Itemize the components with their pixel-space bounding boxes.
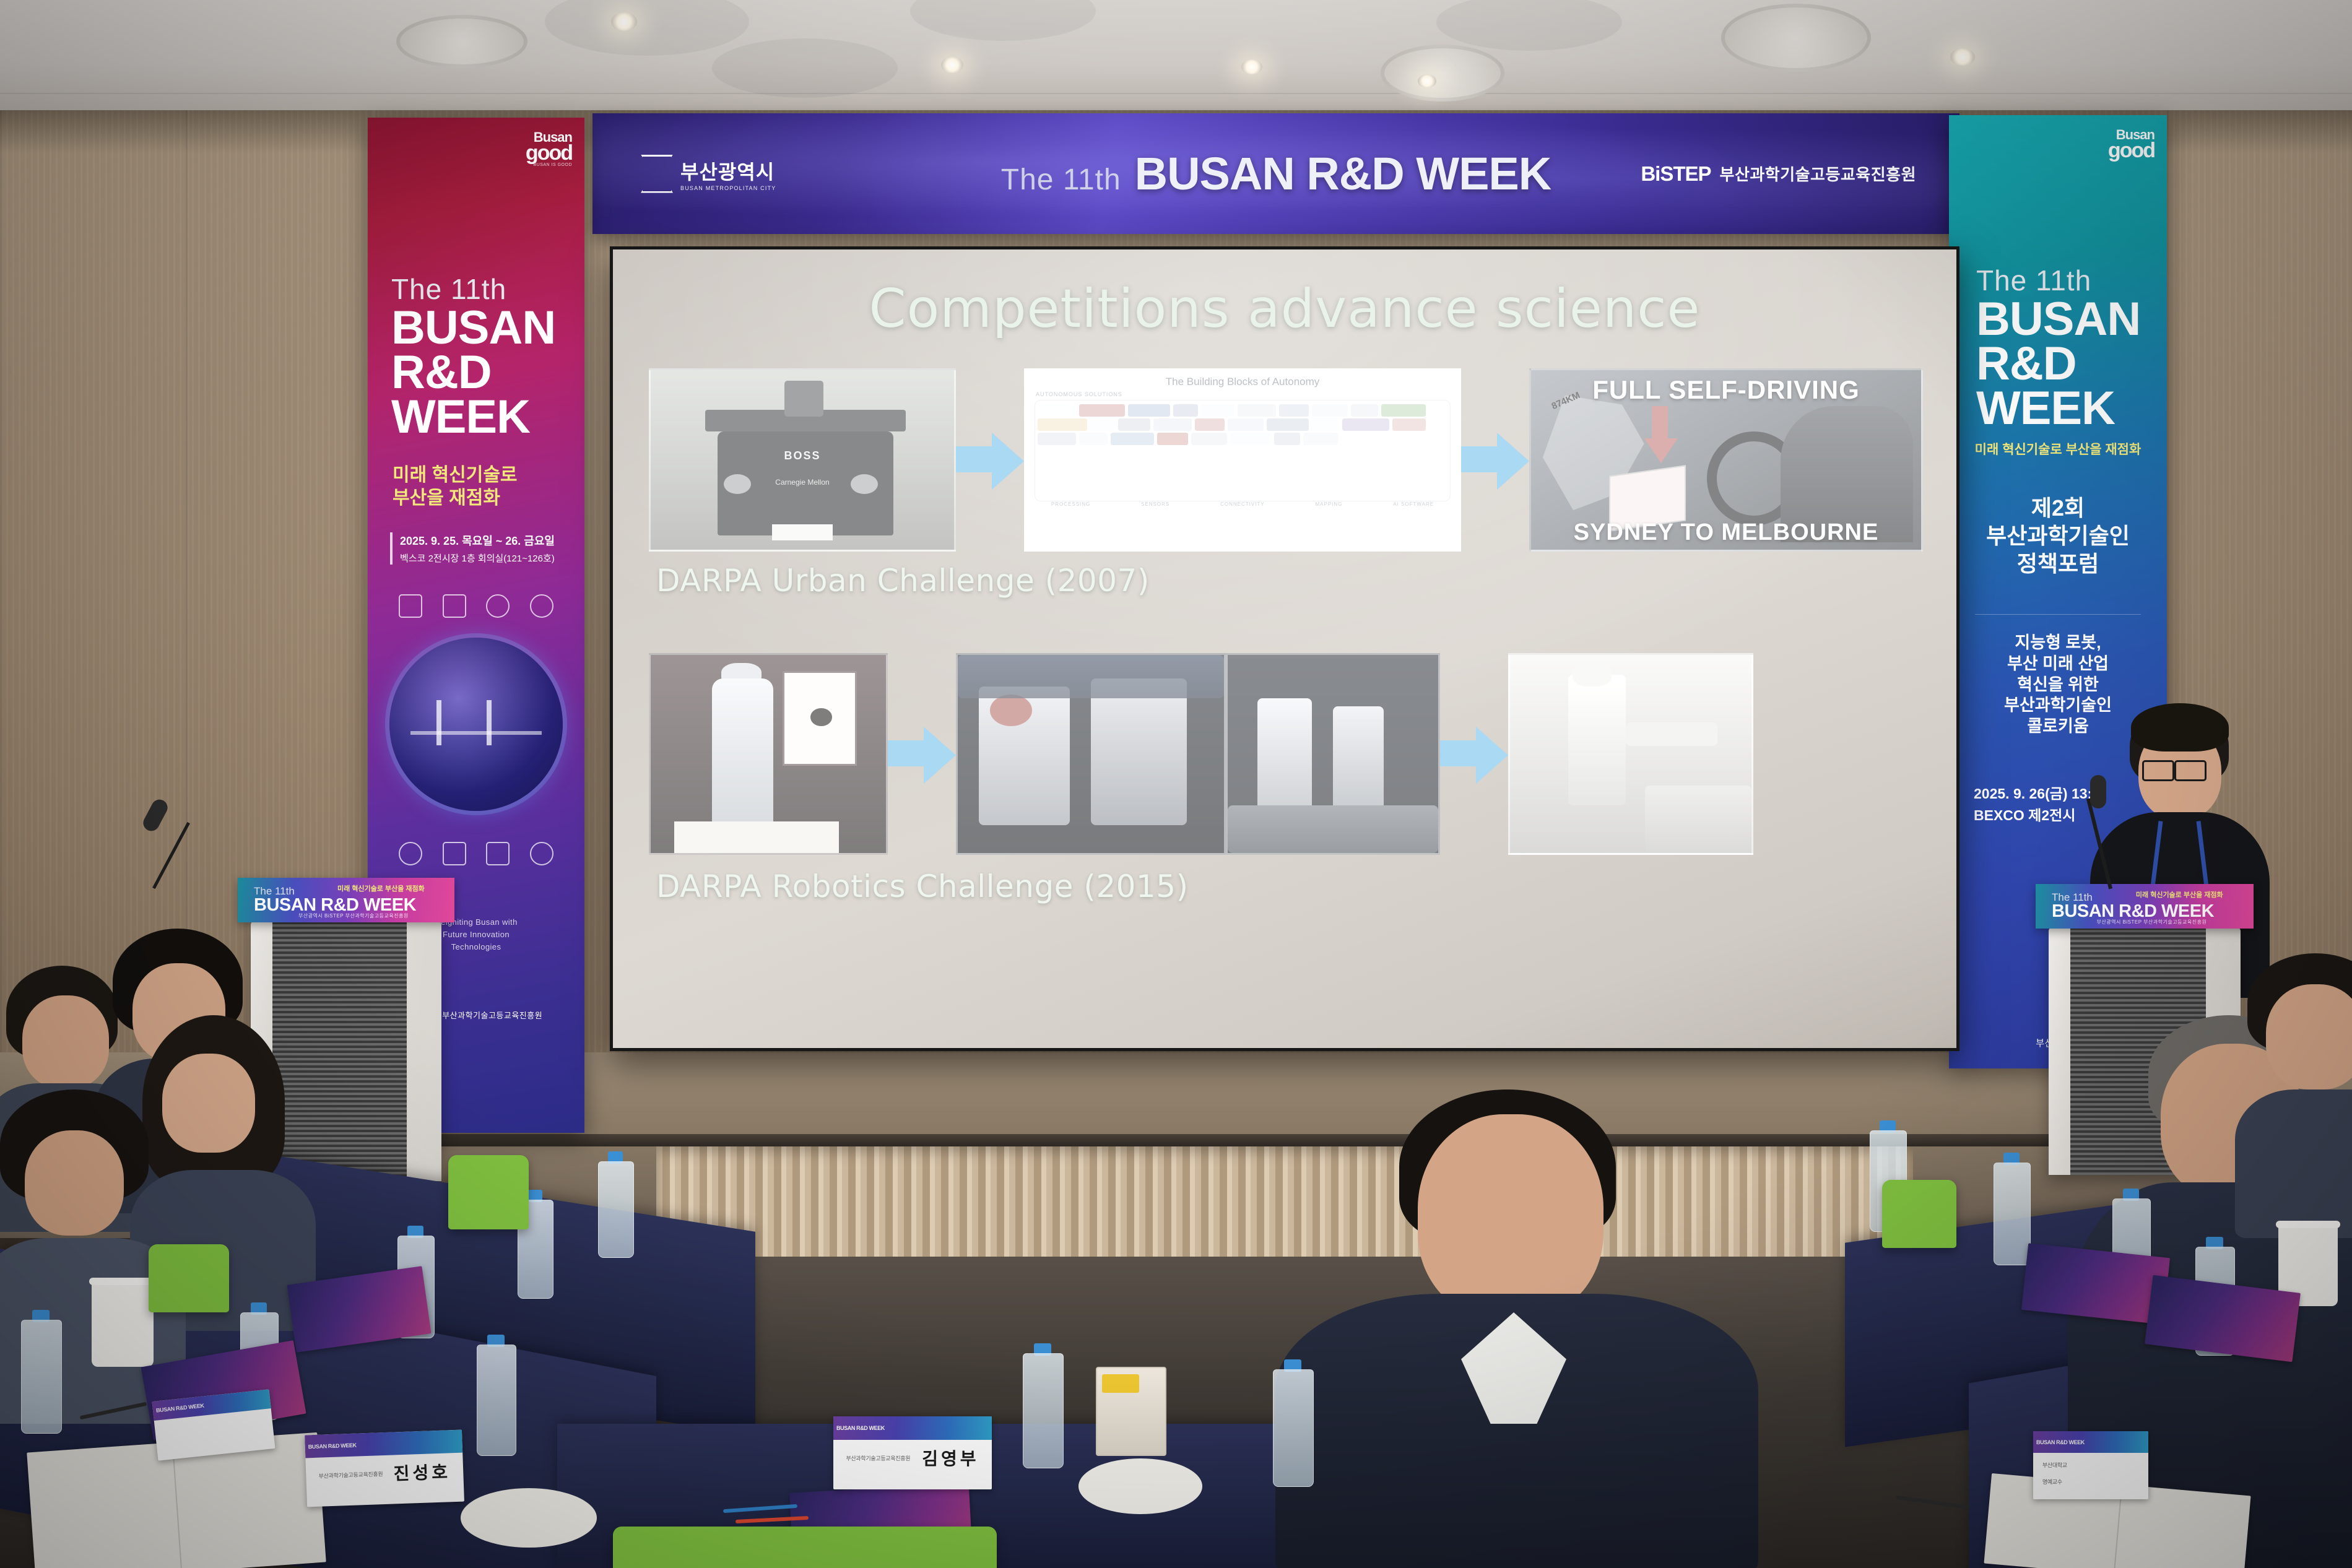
robot-running-photo [1226,653,1440,855]
left-podium-sign: The 11th BUSAN R&D WEEK 미래 혁신기술로 부산을 재점화… [238,878,454,922]
placard-role: 명예교수 [2042,1478,2062,1486]
right-podium-logos: 부산광역시 BiSTEP 부산과학기술고등교육진흥원 [2097,919,2207,925]
autonomy-graphic-title: The Building Blocks of Autonomy [1026,376,1459,388]
left-podium-logos: 부산광역시 BiSTEP 부산과학기술고등교육진흥원 [298,912,409,919]
conference-hall-photo: 부산광역시 BUSAN METROPOLITAN CITY The 11th B… [0,0,2352,1568]
autonomy-footer-2: CONNECTIVITY [1220,501,1265,507]
fsd-top-caption: FULL SELF-DRIVING [1531,375,1921,405]
snack-box[interactable] [1096,1367,1166,1456]
fsd-bottom-caption: SYDNEY TO MELBOURNE [1531,519,1921,546]
main-stage-banner: 부산광역시 BUSAN METROPOLITAN CITY The 11th B… [592,113,1959,234]
ceiling-vent [396,15,527,68]
name-placard: BUSAN R&D WEEK [152,1389,276,1460]
left-banner-icons-top [368,594,584,618]
banner-title-group: The 11th BUSAN R&D WEEK [1001,147,1551,200]
snack-plate[interactable] [1078,1458,1202,1514]
left-banner-line1: BUSAN [391,306,555,350]
busan-is-good-logo-right: Busan good [2108,129,2155,161]
left-banner-date: 2025. 9. 25. 목요일 ~ 26. 금요일 [400,532,555,548]
placard-header: BUSAN R&D WEEK [833,1416,992,1440]
left-podium-title: BUSAN R&D WEEK [254,896,416,914]
right-banner-slogan: 미래 혁신기술로 부산을 재점화 [1949,442,2167,458]
left-banner-venue: 벡스코 2전시장 1층 회의실(121~126호) [400,552,555,565]
presenter-microphone-head [2090,775,2106,808]
right-podium-slogan: 미래 혁신기술로 부산을 재점화 [2136,890,2223,899]
robot-manipulation-photo [1508,653,1753,855]
chair[interactable] [448,1155,529,1229]
left-banner-icons-bottom [368,842,584,865]
right-banner-line2: R&D [1976,342,2140,386]
banner-edition: The 11th [1001,163,1121,197]
autonomy-graphic-footer: PROCESSING SENSORS CONNECTIVITY MAPPING … [1026,501,1459,507]
slide-caption-robotics-challenge: DARPA Robotics Challenge (2015) [656,868,1189,904]
autonomy-graphic-subtitle: AUTONOMOUS SOLUTIONS [1036,391,1122,397]
right-podium-title: BUSAN R&D WEEK [2052,903,2214,920]
server-icon [486,842,510,865]
name-placard: BUSAN R&D WEEK 부산대학교 명예교수 [2033,1431,2148,1499]
placard-org: 부산대학교 [2042,1461,2067,1469]
busan-is-good-logo-left: Busan good BUSAN IS GOOD [526,131,572,167]
water-bottle[interactable] [1273,1359,1313,1487]
arrow-right-icon [1461,430,1529,490]
water-bottle[interactable] [1994,1153,2029,1265]
busan-city-logo: 부산광역시 BUSAN METROPOLITAN CITY [641,155,776,193]
left-banner-line3: WEEK [391,395,555,440]
name-placard: BUSAN R&D WEEK 부산과학기술고등교육진흥원 김영부 [833,1416,992,1489]
water-bottle[interactable] [477,1335,515,1456]
arrow-right-icon [888,724,956,784]
virus-icon [486,594,510,618]
right-banner-forum-1: 제2회 [1949,494,2167,522]
ceiling-downlight [1418,74,1436,88]
coffee-cup[interactable] [92,1283,154,1367]
ceiling-vent [1721,4,1871,72]
right-podium-sign: The 11th BUSAN R&D WEEK 미래 혁신기술로 부산을 재점화… [2036,884,2254,929]
cup-lid [2276,1221,2340,1228]
ceiling [0,0,2352,115]
busan-is-good-line2: good [526,144,572,163]
right-banner-desc-1: 지능형 로봇, [1949,633,2167,654]
molecule-icon [530,594,553,618]
robot-boxing-photo [956,653,1226,855]
flask-icon [530,842,553,865]
cloud-icon [399,842,422,865]
bistep-wordmark: BiSTEP [1641,162,1711,186]
placard-name: 진성호 [393,1459,451,1486]
red-arrow-icon [1644,406,1678,466]
placard-header: BUSAN R&D WEEK [2033,1431,2148,1453]
left-banner-slogan-1: 미래 혁신기술로 [393,464,518,487]
placard-header: BUSAN R&D WEEK [305,1430,462,1458]
ceiling-downlight [941,57,963,73]
placard-org: 부산과학기술고등교육진흥원 [318,1470,383,1480]
chair[interactable] [1882,1180,1956,1248]
right-banner-forum-2: 부산과학기술인 [1949,522,2167,550]
arrow-right-icon [1440,724,1508,784]
slide-caption-urban-challenge: DARPA Urban Challenge (2007) [656,563,1150,599]
network-icon [399,594,422,618]
right-banner-edition: The 11th [1976,264,2140,297]
slide-title: Competitions advance science [613,278,1956,340]
ceiling-downlight [611,12,637,31]
busan-city-mark-icon [641,155,673,193]
left-banner-line2: R&D [391,350,555,395]
right-banner-line3: WEEK [1976,386,2140,431]
left-banner-edition: The 11th [391,272,555,306]
autonomy-footer-1: SENSORS [1141,501,1169,507]
busan-is-good-line2-r: good [2108,141,2155,160]
water-bottle[interactable] [1023,1343,1062,1468]
presenter-hair-top [2131,703,2229,752]
full-self-driving-photo: 874KM FULL SELF-DRIVING SYDNEY TO MELBOU… [1529,368,1923,552]
name-placard: BUSAN R&D WEEK 부산과학기술고등교육진흥원 진성호 [305,1430,464,1507]
busan-city-name-en: BUSAN METROPOLITAN CITY [680,185,776,191]
arrow-right-icon [956,430,1024,490]
right-banner-line1: BUSAN [1976,297,2140,342]
presenter-glasses [2142,760,2174,781]
chair[interactable] [149,1244,229,1312]
right-banner-forum-3: 정책포럼 [1949,550,2167,578]
right-banner-desc-3: 혁신을 위한 [1949,675,2167,696]
placard-name: 김영부 [922,1445,979,1470]
left-banner-slogan-2: 부산을 재점화 [393,487,518,510]
autonomy-logo-grid [1035,400,1451,501]
battery-icon [443,842,466,865]
ceiling-downlight [1950,48,1975,66]
projection-screen: Competitions advance science BOSS Carneg… [610,246,1959,1051]
darpa-vehicle-label: BOSS [651,449,954,462]
humanoid-door-photo [649,653,888,855]
audience-member-right [2229,953,2352,1213]
ceiling-vent [1381,45,1504,102]
water-bottle[interactable] [598,1151,633,1258]
banner-title: BUSAN R&D WEEK [1135,147,1551,200]
darpa-vehicle-sublabel: Carnegie Mellon [651,478,954,487]
right-banner-desc-2: 부산 미래 산업 [1949,654,2167,675]
slide-row-bottom [613,652,1956,856]
darpa-vehicle-photo: BOSS Carnegie Mellon [649,368,956,552]
ceiling-downlight [1241,59,1262,74]
left-podium-slogan: 미래 혁신기술로 부산을 재점화 [337,883,425,893]
autonomy-building-blocks-graphic: The Building Blocks of Autonomy AUTONOMO… [1024,368,1461,552]
busan-bridge-globe-graphic [389,638,563,811]
cup-lid [89,1278,156,1285]
snack-box-label [1102,1374,1139,1393]
device-icon [443,594,466,618]
slide-row-top: BOSS Carnegie Mellon The Building Blocks… [613,367,1956,553]
foreground-attendee [1275,1089,1758,1568]
autonomy-footer-3: MAPPING [1315,501,1342,507]
snack-plate[interactable] [461,1488,597,1548]
busan-city-name-kr: 부산광역시 [680,157,776,185]
autonomy-footer-0: PROCESSING [1051,501,1090,507]
water-bottle[interactable] [21,1310,61,1434]
presenter-glasses-2 [2174,760,2207,781]
placard-org: 부산과학기술고등교육진흥원 [846,1454,910,1462]
bistep-name-kr: 부산과학기술고등교육진흥원 [1720,162,1916,185]
autonomy-footer-4: AI SOFTWARE [1393,501,1434,507]
chair[interactable] [613,1527,997,1568]
bistep-logo-group: BiSTEP 부산과학기술고등교육진흥원 [1641,162,1916,186]
